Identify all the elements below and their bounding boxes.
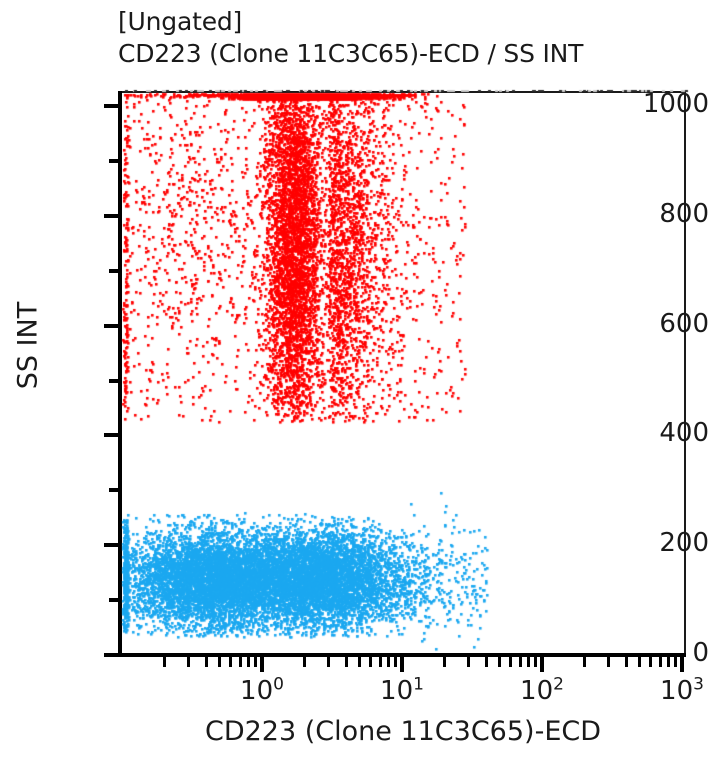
plot-frame-top bbox=[120, 91, 686, 93]
y-tick-minor bbox=[109, 488, 120, 492]
x-tick-major bbox=[260, 657, 264, 672]
flow-cytometry-dot-plot: [Ungated] CD223 (Clone 11C3C65)-ECD / SS… bbox=[0, 0, 709, 761]
x-tick-major bbox=[400, 657, 404, 672]
x-tick-minor bbox=[239, 657, 242, 667]
x-tick-label: 100 bbox=[240, 676, 284, 706]
y-tick-minor bbox=[109, 269, 120, 273]
x-tick-minor bbox=[534, 657, 537, 667]
x-tick-minor bbox=[229, 657, 232, 667]
x-tick-major bbox=[680, 657, 684, 672]
x-tick-minor bbox=[674, 657, 677, 667]
plot-title-parameters: CD223 (Clone 11C3C65)-ECD / SS INT bbox=[118, 38, 583, 70]
x-tick-minor bbox=[387, 657, 390, 667]
x-tick-minor bbox=[498, 657, 501, 667]
x-tick-minor bbox=[527, 657, 530, 667]
plot-title: [Ungated] CD223 (Clone 11C3C65)-ECD / SS… bbox=[118, 6, 583, 70]
x-tick-major bbox=[540, 657, 544, 672]
y-tick-label: 800 bbox=[613, 199, 709, 229]
x-tick-minor bbox=[667, 657, 670, 667]
x-tick-minor bbox=[327, 657, 330, 667]
y-tick-label: 600 bbox=[613, 309, 709, 339]
x-tick-minor bbox=[187, 657, 190, 667]
y-tick-major bbox=[104, 104, 120, 108]
y-tick-minor bbox=[109, 159, 120, 163]
plot-frame-right bbox=[684, 91, 686, 657]
y-tick-minor bbox=[109, 598, 120, 602]
x-tick-label: 103 bbox=[660, 676, 704, 706]
y-tick-major bbox=[104, 214, 120, 218]
plot-title-gate: [Ungated] bbox=[118, 7, 242, 36]
x-tick-minor bbox=[485, 657, 488, 667]
y-tick-label: 1000 bbox=[613, 89, 709, 119]
x-tick-minor bbox=[218, 657, 221, 667]
x-tick-minor bbox=[638, 657, 641, 667]
y-axis-title: SS INT bbox=[13, 266, 44, 426]
x-tick-minor bbox=[443, 657, 446, 667]
x-tick-minor bbox=[358, 657, 361, 667]
y-tick-major bbox=[104, 543, 120, 547]
x-tick-minor bbox=[369, 657, 372, 667]
x-tick-minor bbox=[607, 657, 610, 667]
x-tick-minor bbox=[625, 657, 628, 667]
x-tick-label: 101 bbox=[380, 676, 424, 706]
y-tick-major bbox=[104, 653, 120, 657]
y-axis-line bbox=[118, 91, 122, 657]
x-tick-minor bbox=[303, 657, 306, 667]
x-tick-minor bbox=[583, 657, 586, 667]
plot-area bbox=[120, 93, 686, 655]
y-tick-minor bbox=[109, 379, 120, 383]
x-tick-minor bbox=[649, 657, 652, 667]
x-tick-minor bbox=[394, 657, 397, 667]
x-axis-title: CD223 (Clone 11C3C65)-ECD bbox=[120, 716, 686, 747]
x-tick-label: 102 bbox=[520, 676, 564, 706]
x-tick-minor bbox=[345, 657, 348, 667]
x-tick-minor bbox=[205, 657, 208, 667]
x-tick-minor bbox=[467, 657, 470, 667]
x-tick-minor bbox=[509, 657, 512, 667]
y-tick-major bbox=[104, 324, 120, 328]
y-tick-label: 200 bbox=[613, 528, 709, 558]
x-tick-minor bbox=[519, 657, 522, 667]
x-tick-minor bbox=[659, 657, 662, 667]
x-tick-minor bbox=[163, 657, 166, 667]
x-tick-minor bbox=[247, 657, 250, 667]
y-tick-major bbox=[104, 433, 120, 437]
y-tick-label: 400 bbox=[613, 418, 709, 448]
x-tick-minor bbox=[254, 657, 257, 667]
x-tick-minor bbox=[379, 657, 382, 667]
